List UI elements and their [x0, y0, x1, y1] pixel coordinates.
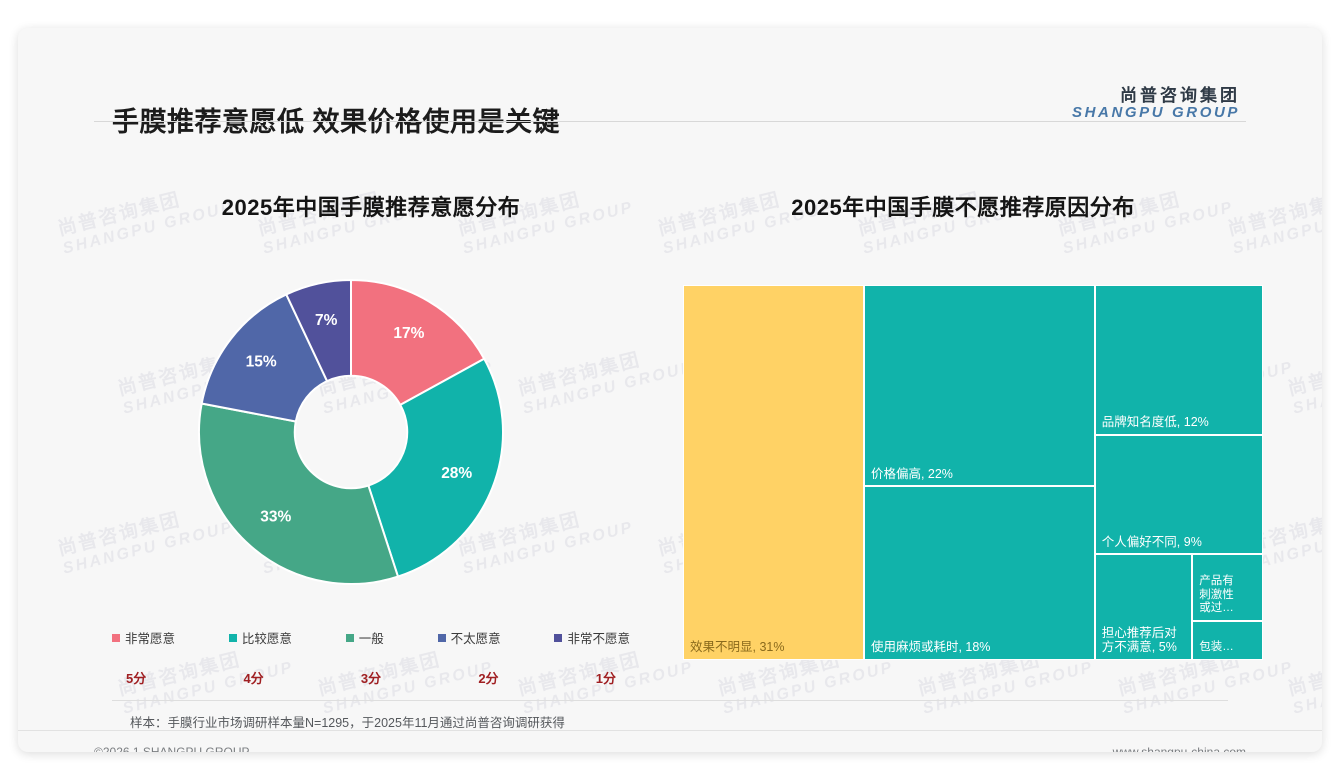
donut-slice-label: 15%	[246, 353, 277, 370]
chart-title-right: 2025年中国手膜不愿推荐原因分布	[678, 190, 1248, 222]
legend-item-label: 不太愿意	[451, 628, 501, 647]
footer-website: www.shangpu-china.com	[1113, 745, 1246, 752]
brand-name-en: SHANGPU GROUP	[1072, 105, 1240, 122]
donut-slice-label: 33%	[260, 508, 291, 525]
brand-name-cn: 尚普咨询集团	[1072, 86, 1240, 105]
legend-item-label: 非常不愿意	[567, 628, 630, 647]
treemap-tile-label: 价格偏高, 22%	[871, 467, 1090, 482]
legend-swatch-icon	[438, 634, 446, 642]
score-scale-label: 1分	[596, 668, 616, 687]
legend-item[interactable]: 一般	[346, 628, 384, 647]
treemap-tile[interactable]: 价格偏高, 22%	[864, 285, 1095, 486]
slide-footer: ©2026.1 SHANGPU GROUP www.shangpu-china.…	[18, 731, 1322, 752]
watermark-text: 尚普咨询集团SHANGPU GROUP	[1286, 637, 1322, 719]
slide-page: 尚普咨询集团SHANGPU GROUP尚普咨询集团SHANGPU GROUP尚普…	[0, 0, 1340, 780]
legend-swatch-icon	[554, 634, 562, 642]
treemap-tile[interactable]: 包装…	[1192, 621, 1263, 660]
treemap-chart: 效果不明显, 31%价格偏高, 22%使用麻烦或耗时, 18%品牌知名度低, 1…	[683, 285, 1263, 660]
treemap-tile-label: 个人偏好不同, 9%	[1102, 535, 1258, 550]
score-scale-label: 3分	[361, 668, 381, 687]
donut-slice-label: 17%	[393, 325, 424, 342]
legend-item[interactable]: 不太愿意	[438, 628, 501, 647]
treemap-tile[interactable]: 使用麻烦或耗时, 18%	[864, 486, 1095, 660]
treemap-tile[interactable]: 品牌知名度低, 12%	[1095, 285, 1263, 435]
treemap-tile[interactable]: 个人偏好不同, 9%	[1095, 435, 1263, 554]
treemap-tile[interactable]: 产品有 刺激性 或过…	[1192, 554, 1263, 621]
treemap-tile-label: 担心推荐后对 方不满意, 5%	[1102, 626, 1187, 656]
score-scale-row: 5分4分3分2分1分	[104, 668, 638, 687]
donut-chart: 17%28%33%15%7%	[191, 272, 511, 592]
footnote-divider	[112, 700, 1228, 701]
legend-item[interactable]: 非常不愿意	[554, 628, 630, 647]
legend-item[interactable]: 比较愿意	[229, 628, 292, 647]
sample-footnote: 样本：手膜行业市场调研样本量N=1295，于2025年11月通过尚普咨询调研获得	[130, 712, 565, 731]
treemap-tile[interactable]: 担心推荐后对 方不满意, 5%	[1095, 554, 1192, 660]
chart-legend: 非常愿意比较愿意一般不太愿意非常不愿意	[104, 628, 638, 647]
slide-header: 手膜推荐意愿低 效果价格使用是关键 尚普咨询集团 SHANGPU GROUP	[18, 28, 1322, 122]
donut-slice-label: 28%	[441, 465, 472, 482]
slide-canvas: 尚普咨询集团SHANGPU GROUP尚普咨询集团SHANGPU GROUP尚普…	[18, 28, 1322, 752]
treemap-tile-label: 效果不明显, 31%	[690, 640, 859, 655]
treemap-tile[interactable]: 效果不明显, 31%	[683, 285, 864, 660]
treemap-tile-label: 使用麻烦或耗时, 18%	[871, 640, 1090, 655]
donut-slice-label: 7%	[315, 312, 338, 329]
score-scale-label: 4分	[243, 668, 263, 687]
legend-item-label: 比较愿意	[242, 628, 292, 647]
brand-logo: 尚普咨询集团 SHANGPU GROUP	[1072, 86, 1240, 122]
score-scale-label: 5分	[126, 668, 146, 687]
legend-swatch-icon	[346, 634, 354, 642]
legend-swatch-icon	[112, 634, 120, 642]
treemap-tile-label: 包装…	[1199, 641, 1258, 655]
donut-chart-svg: 17%28%33%15%7%	[191, 272, 511, 592]
watermark-text: 尚普咨询集团SHANGPU GROUP	[1286, 337, 1322, 419]
treemap-tile-label: 产品有 刺激性 或过…	[1199, 575, 1258, 616]
legend-item[interactable]: 非常愿意	[112, 628, 175, 647]
footer-copyright: ©2026.1 SHANGPU GROUP	[94, 745, 250, 752]
legend-swatch-icon	[229, 634, 237, 642]
donut-slice[interactable]	[199, 404, 398, 584]
header-divider	[94, 121, 1246, 122]
legend-item-label: 一般	[359, 628, 384, 647]
chart-panel-recommendation-willingness: 2025年中国手膜推荐意愿分布 17%28%33%15%7% 非常愿意比较愿意一…	[96, 190, 646, 690]
score-scale-label: 2分	[478, 668, 498, 687]
chart-title-left: 2025年中国手膜推荐意愿分布	[96, 190, 646, 222]
legend-item-label: 非常愿意	[125, 628, 175, 647]
chart-panel-reasons-treemap: 2025年中国手膜不愿推荐原因分布 效果不明显, 31%价格偏高, 22%使用麻…	[678, 190, 1248, 690]
treemap-tile-label: 品牌知名度低, 12%	[1102, 415, 1258, 430]
page-title: 手膜推荐意愿低 效果价格使用是关键	[112, 100, 560, 139]
